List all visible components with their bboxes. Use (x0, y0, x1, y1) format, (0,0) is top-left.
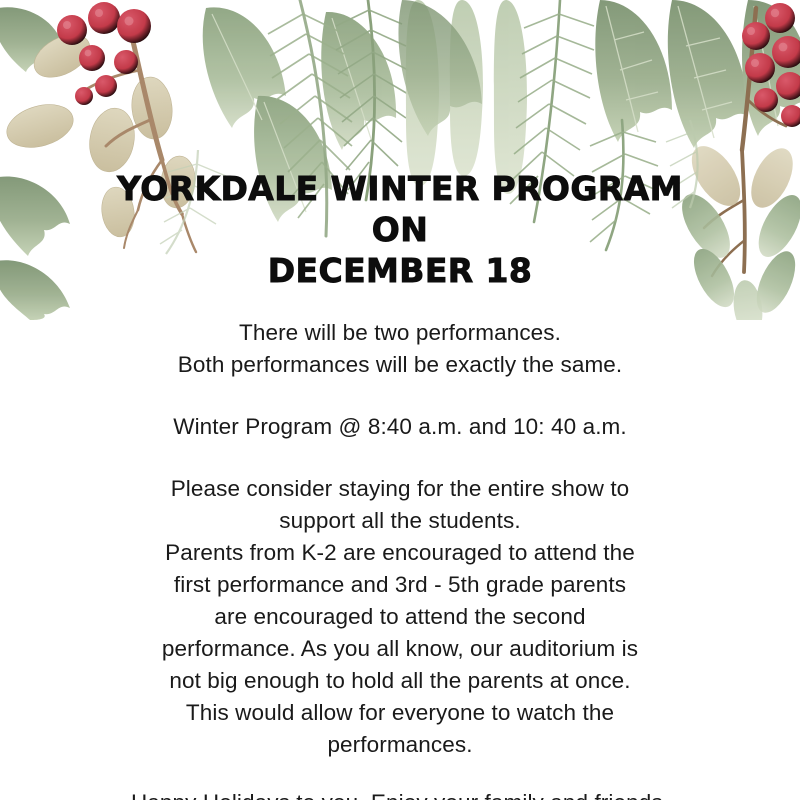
body-line: Happy Holidays to you. Enjoy your family… (50, 787, 750, 800)
body-line: not big enough to hold all the parents a… (50, 665, 750, 697)
paragraph-gap (50, 381, 750, 411)
paragraph-grade-assignments: Parents from K-2 are encouraged to atten… (50, 537, 750, 761)
body-line: Both performances will be exactly the sa… (50, 349, 750, 381)
paragraph-times: Winter Program @ 8:40 a.m. and 10: 40 a.… (50, 411, 750, 443)
page-title-line-2: DECEMBER 18 (90, 250, 710, 291)
body-line: performances. (50, 729, 750, 761)
body-line: This would allow for everyone to watch t… (50, 697, 750, 729)
body-line: Please consider staying for the entire s… (50, 473, 750, 505)
paragraph-gap (50, 443, 750, 473)
body-line: Parents from K-2 are encouraged to atten… (50, 537, 750, 569)
body-line: support all the students. (50, 505, 750, 537)
paragraph-closing: Happy Holidays to you. Enjoy your family… (50, 787, 750, 800)
body-line: Winter Program @ 8:40 a.m. and 10: 40 a.… (50, 411, 750, 443)
winter-program-flyer: YORKDALE WINTER PROGRAM ON DECEMBER 18 T… (0, 0, 800, 800)
page-title-line-1: YORKDALE WINTER PROGRAM ON (90, 168, 710, 250)
body-line: are encouraged to attend the second (50, 601, 750, 633)
body-line: performance. As you all know, our audito… (50, 633, 750, 665)
paragraph-performances: There will be two performances. Both per… (50, 317, 750, 381)
paragraph-gap (50, 761, 750, 787)
body-line: first performance and 3rd - 5th grade pa… (50, 569, 750, 601)
body-line: There will be two performances. (50, 317, 750, 349)
flyer-body: There will be two performances. Both per… (50, 317, 750, 800)
flyer-content: YORKDALE WINTER PROGRAM ON DECEMBER 18 T… (0, 168, 800, 800)
paragraph-support: Please consider staying for the entire s… (50, 473, 750, 537)
page-title: YORKDALE WINTER PROGRAM ON DECEMBER 18 (90, 168, 710, 291)
